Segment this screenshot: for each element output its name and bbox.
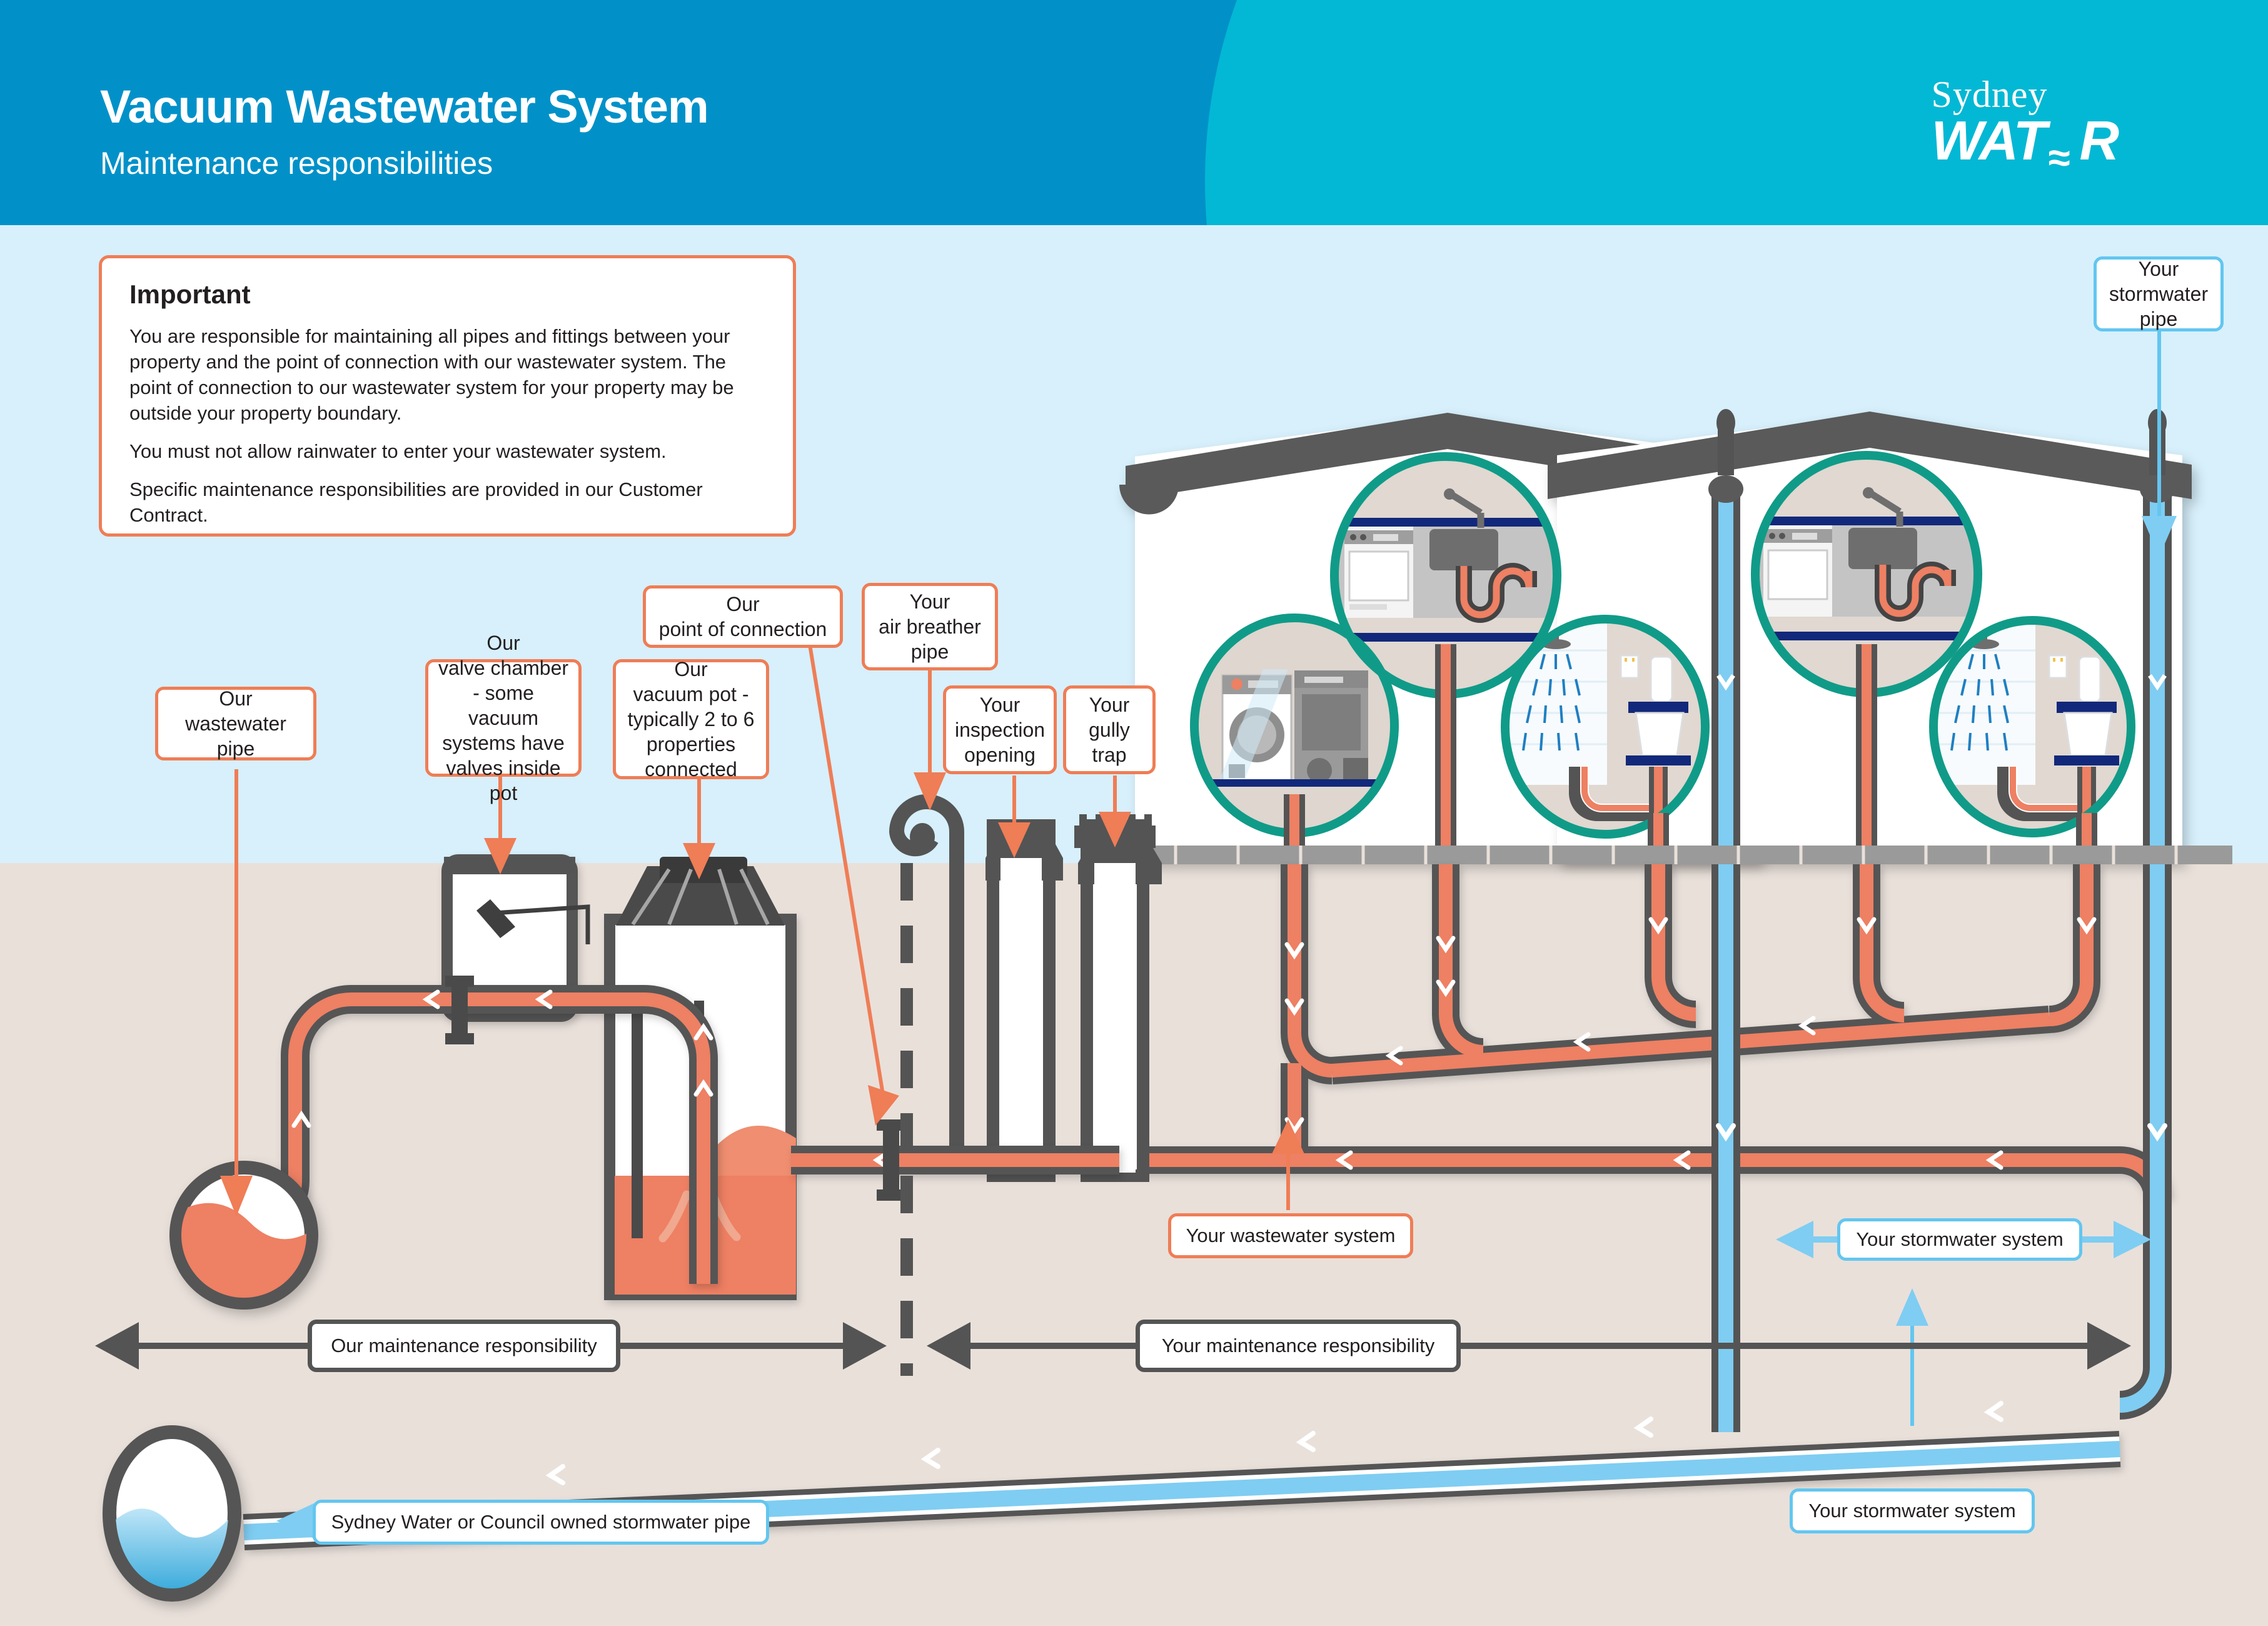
logo-water-part-b: R <box>2079 109 2118 171</box>
important-paragraph-2: You must not allow rainwater to enter yo… <box>129 438 765 464</box>
callout-your-gully-trap[interactable]: Yourgullytrap <box>1063 685 1156 774</box>
callout-your-stormwater-system-lower[interactable]: Your stormwater system <box>1790 1488 2035 1533</box>
callout-your-stormwater-pipe[interactable]: Yourstormwaterpipe <box>2094 256 2224 331</box>
logo-sydney-text: Sydney <box>1931 75 2118 114</box>
callout-your-inspection-opening[interactable]: Yourinspectionopening <box>943 685 1057 774</box>
logo-water-text: WAT≈R <box>1931 114 2118 168</box>
page-title: Vacuum Wastewater System <box>100 80 708 133</box>
callout-our-vacuum-pot[interactable]: Ourvacuum pot -typically 2 to 6propertie… <box>613 659 769 779</box>
infographic-canvas: Vacuum Wastewater System Maintenance res… <box>0 0 2268 1626</box>
callout-your-stormwater-system-upper[interactable]: Your stormwater system <box>1837 1218 2082 1261</box>
page-subtitle: Maintenance responsibilities <box>100 145 493 181</box>
sydney-water-logo: Sydney WAT≈R <box>1931 75 2118 168</box>
callout-your-air-breather-pipe[interactable]: Yourair breatherpipe <box>862 583 998 670</box>
important-panel: Important You are responsible for mainta… <box>99 255 796 537</box>
callout-sydney-water-or-council-pipe[interactable]: Sydney Water or Council owned stormwater… <box>313 1500 769 1545</box>
important-paragraph-1: You are responsible for maintaining all … <box>129 323 765 426</box>
callout-our-wastewater-pipe[interactable]: Ourwastewater pipe <box>155 687 316 760</box>
important-paragraph-3: Specific maintenance responsibilities ar… <box>129 477 765 528</box>
callout-our-point-of-connection[interactable]: Ourpoint of connection <box>643 585 843 648</box>
logo-water-part-a: WAT <box>1931 109 2045 171</box>
callout-our-valve-chamber[interactable]: Ourvalve chamber- some vacuumsystems hav… <box>425 659 582 777</box>
important-heading: Important <box>129 280 765 310</box>
header-banner: Vacuum Wastewater System Maintenance res… <box>0 0 2268 225</box>
callout-your-wastewater-system[interactable]: Your wastewater system <box>1168 1213 1413 1258</box>
callout-our-maintenance-responsibility[interactable]: Our maintenance responsibility <box>308 1320 620 1372</box>
callout-your-maintenance-responsibility[interactable]: Your maintenance responsibility <box>1136 1320 1461 1372</box>
